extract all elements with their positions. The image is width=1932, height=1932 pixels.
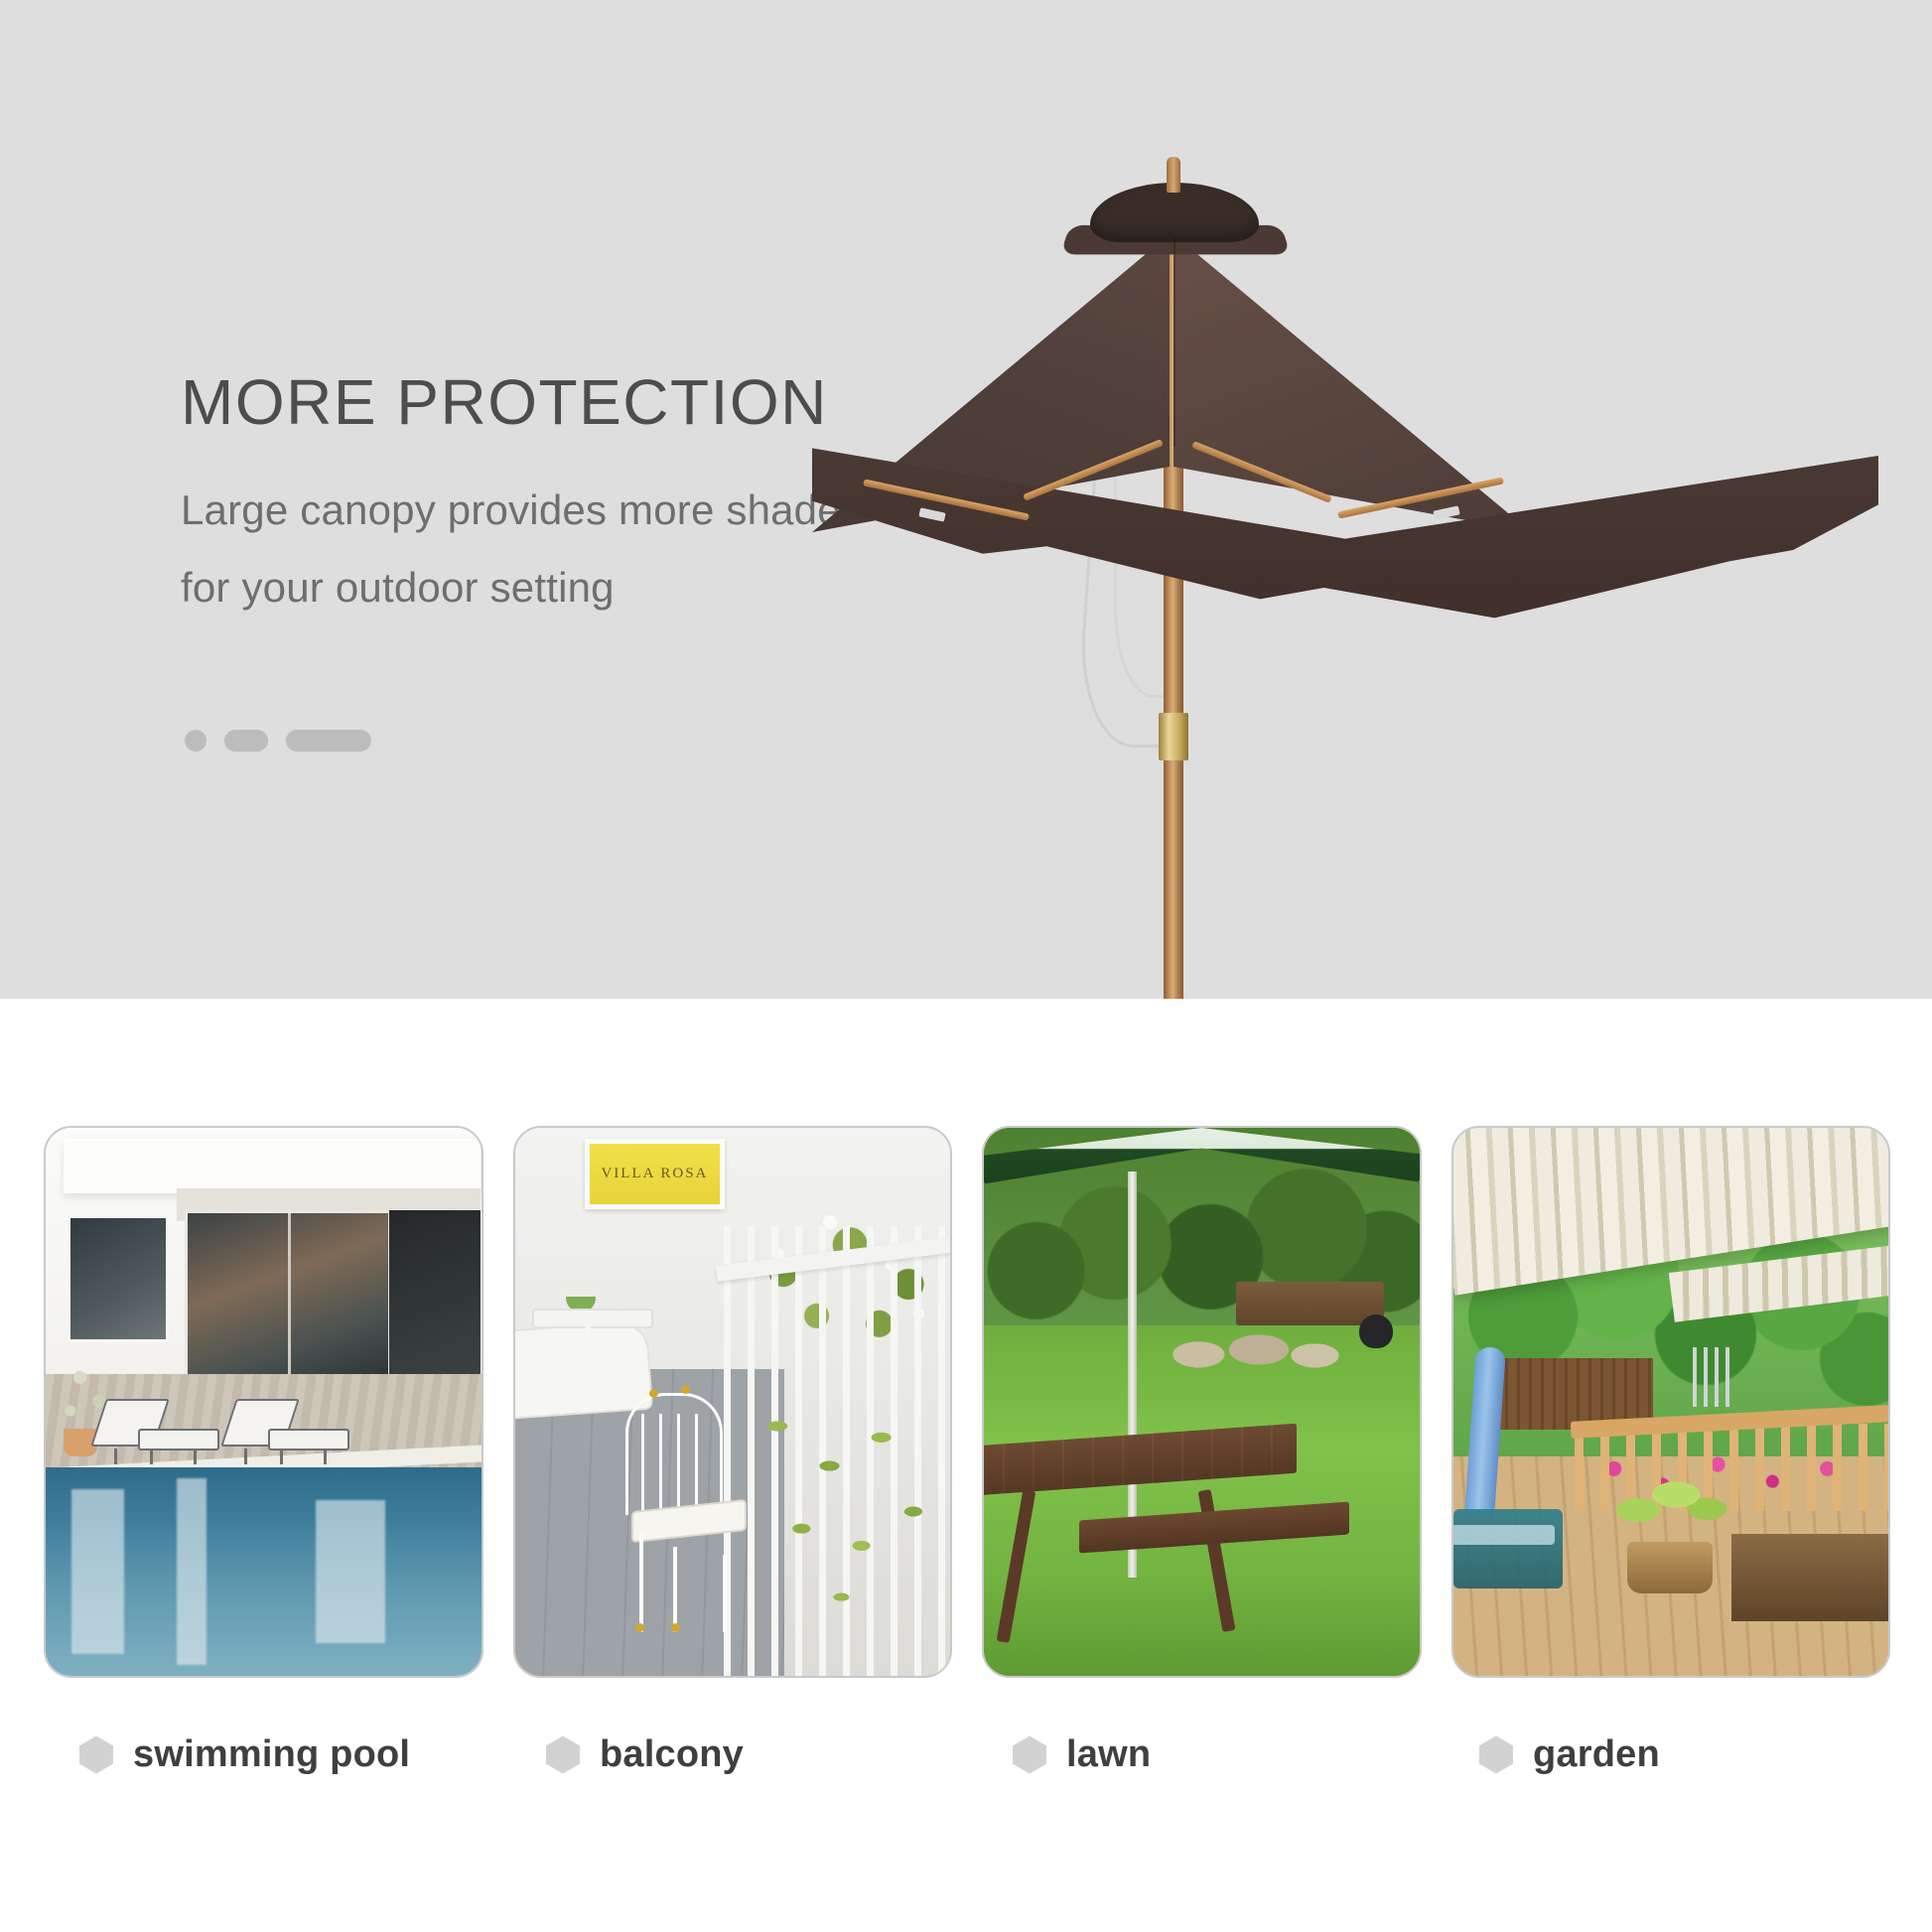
caption-lawn: lawn (977, 1733, 1414, 1776)
pool-lounger-2 (228, 1403, 345, 1464)
caption-label: balcony (600, 1733, 744, 1776)
balcony-iron-chair (620, 1384, 749, 1632)
indicator-dot (185, 730, 207, 752)
villa-rosa-poster: VILLA ROSA (585, 1139, 726, 1209)
umbrella-collar (1159, 713, 1188, 760)
caption-label: swimming pool (133, 1733, 410, 1776)
gallery-caption-row: swimming pool balcony lawn garden (44, 1733, 1890, 1776)
gallery-card-garden[interactable] (1451, 1126, 1891, 1678)
hexagon-bullet-icon (546, 1736, 580, 1774)
poster-text: VILLA ROSA (601, 1166, 708, 1182)
hexagon-bullet-icon (1479, 1736, 1513, 1774)
gallery-card-row: VILLA ROSA (44, 1126, 1890, 1678)
caption-swimming-pool: swimming pool (44, 1733, 481, 1776)
balcony-photo: VILLA ROSA (515, 1128, 951, 1676)
hexagon-bullet-icon (1013, 1736, 1046, 1774)
pool-lounger-1 (98, 1403, 215, 1464)
caption-label: garden (1533, 1733, 1660, 1776)
hexagon-bullet-icon (79, 1736, 113, 1774)
swimming-pool-photo (46, 1128, 482, 1676)
caption-label: lawn (1066, 1733, 1151, 1776)
gallery-card-swimming-pool[interactable] (44, 1126, 483, 1678)
gallery-card-lawn[interactable] (982, 1126, 1422, 1678)
caption-garden: garden (1444, 1733, 1880, 1776)
patio-umbrella-image (824, 139, 1866, 999)
hero-section: MORE PROTECTION Large canopy provides mo… (0, 0, 1932, 999)
garden-photo (1453, 1128, 1889, 1676)
scene-gallery: VILLA ROSA (0, 999, 1932, 1932)
progress-indicator (185, 730, 371, 752)
lawn-photo (984, 1128, 1420, 1676)
wind-chime (1693, 1347, 1732, 1407)
umbrella-finial (1167, 157, 1180, 193)
caption-balcony: balcony (510, 1733, 947, 1776)
indicator-long-dash (286, 730, 371, 752)
indicator-short-dash (224, 730, 268, 752)
umbrella-seam-center (1173, 238, 1175, 447)
gallery-card-balcony[interactable]: VILLA ROSA (513, 1126, 953, 1678)
